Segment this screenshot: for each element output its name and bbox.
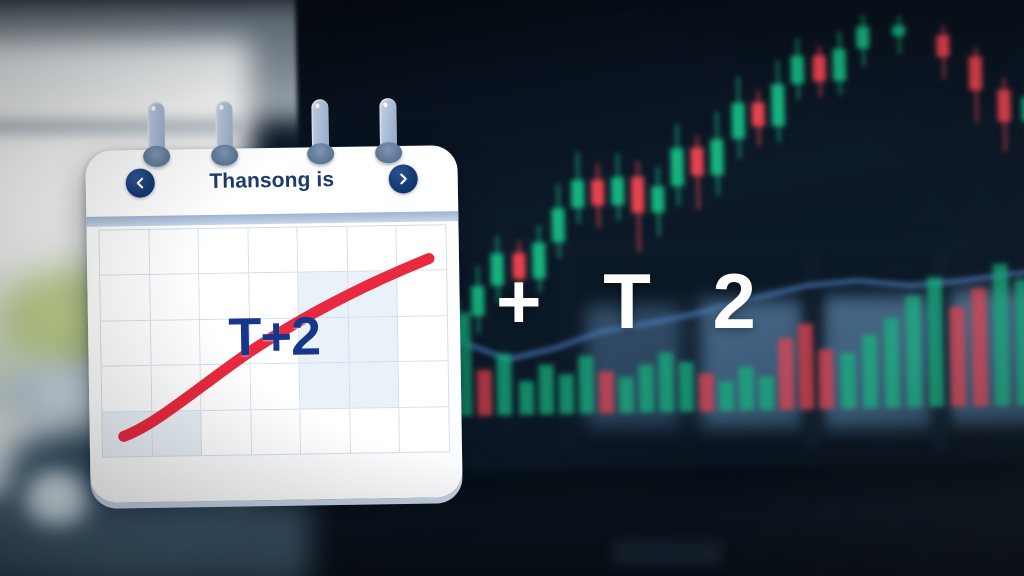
candle-body	[631, 177, 645, 213]
volume-bar	[599, 371, 615, 413]
volume-bar	[993, 264, 1011, 406]
overlay-headline: + T 2	[496, 256, 776, 347]
calendar-day-cell[interactable]	[201, 365, 251, 411]
calendar-day-cell[interactable]	[251, 409, 301, 455]
volume-bar	[884, 318, 901, 408]
volume-bar	[778, 338, 794, 410]
volume-bar	[905, 295, 922, 407]
calendar-grid[interactable]	[98, 224, 450, 457]
calendar-day-cell[interactable]	[398, 271, 448, 317]
candle-body	[832, 49, 846, 81]
calendar-day-cell[interactable]	[299, 318, 349, 364]
calendar-day-cell[interactable]	[400, 407, 450, 453]
calendar-day-cell[interactable]	[150, 320, 200, 366]
candle-body	[751, 102, 764, 126]
volume-bar	[699, 373, 715, 411]
candle-body	[651, 186, 664, 212]
candle-body	[791, 56, 805, 84]
candle-body	[936, 35, 949, 57]
calendar-day-cell[interactable]	[102, 412, 152, 458]
volume-bar	[818, 349, 834, 409]
volume-bar	[658, 352, 674, 412]
calendar-day-cell[interactable]	[349, 317, 399, 363]
volume-bar	[619, 377, 635, 413]
calendar-day-cell[interactable]	[248, 228, 298, 274]
calendar-day-cell[interactable]	[250, 318, 300, 364]
calendar-day-cell[interactable]	[101, 321, 151, 367]
volume-bar	[971, 288, 988, 406]
volume-bar	[578, 356, 594, 414]
calendar-day-cell[interactable]	[151, 365, 201, 411]
calendar-day-cell[interactable]	[100, 230, 150, 276]
candle-body	[611, 177, 625, 205]
calendar-day-cell[interactable]	[100, 275, 150, 321]
calendar-day-cell[interactable]	[250, 364, 300, 410]
calendar-day-cell[interactable]	[298, 227, 348, 273]
candle-body	[771, 84, 785, 126]
candle-body	[731, 103, 745, 139]
binding-ring-base	[307, 143, 334, 164]
volume-bar	[719, 381, 735, 411]
volume-bar	[638, 365, 654, 413]
candle-body	[710, 139, 724, 175]
calendar-day-cell[interactable]	[300, 363, 350, 409]
calendar-day-cell[interactable]	[152, 411, 202, 457]
volume-bar	[519, 381, 535, 415]
volume-bar	[949, 307, 966, 407]
calendar-day-cell[interactable]	[249, 273, 299, 319]
candle-body	[813, 55, 826, 81]
calendar-day-cell[interactable]	[201, 410, 251, 456]
volume-bar	[927, 277, 944, 407]
calendar-day-cell[interactable]	[199, 228, 249, 274]
calendar-day-cell[interactable]	[399, 361, 449, 407]
calendar-day-cell[interactable]	[350, 408, 400, 454]
calendar-day-cell[interactable]	[200, 319, 250, 365]
calendar-day-cell[interactable]	[150, 275, 200, 321]
desk-object-blur	[22, 468, 92, 528]
volume-bar	[739, 367, 755, 411]
candle-body	[997, 90, 1011, 122]
binding-ring-base	[375, 142, 402, 163]
calendar-day-cell[interactable]	[397, 225, 447, 271]
calendar-day-cell[interactable]	[347, 226, 397, 272]
candle-body	[591, 179, 604, 205]
volume-bar	[559, 374, 575, 414]
candle-body	[551, 208, 565, 242]
candle-body	[571, 180, 585, 208]
calendar-card[interactable]: Thansong is T+2	[85, 145, 462, 503]
volume-bar	[1015, 279, 1024, 405]
candle-body	[690, 148, 704, 176]
calendar-day-cell[interactable]	[349, 362, 399, 408]
candle-body	[892, 26, 905, 36]
binding-ring-base	[211, 145, 238, 166]
scene-root: + T 2 Thansong is T+2	[0, 0, 1024, 576]
binding-ring-base	[143, 146, 170, 167]
volume-bar	[862, 334, 878, 408]
monitor-stand	[612, 540, 722, 566]
candle-body	[670, 148, 684, 186]
candle-body	[856, 26, 869, 48]
volume-bar	[538, 364, 554, 414]
calendar-day-cell[interactable]	[298, 272, 348, 318]
volume-bar	[496, 353, 512, 415]
volume-bar	[798, 323, 815, 409]
calendar-day-cell[interactable]	[102, 366, 152, 412]
candle-body	[471, 286, 485, 316]
volume-bar	[477, 370, 493, 416]
calendar-binding-rings	[87, 97, 460, 193]
calendar-day-cell[interactable]	[149, 229, 199, 275]
calendar-day-cell[interactable]	[398, 316, 448, 362]
candle-body	[969, 56, 983, 90]
volume-bar	[840, 353, 856, 409]
calendar-day-cell[interactable]	[199, 274, 249, 320]
calendar-day-cell[interactable]	[301, 408, 351, 454]
volume-bar	[759, 376, 775, 410]
calendar-day-cell[interactable]	[348, 271, 398, 317]
volume-bar	[678, 362, 694, 412]
